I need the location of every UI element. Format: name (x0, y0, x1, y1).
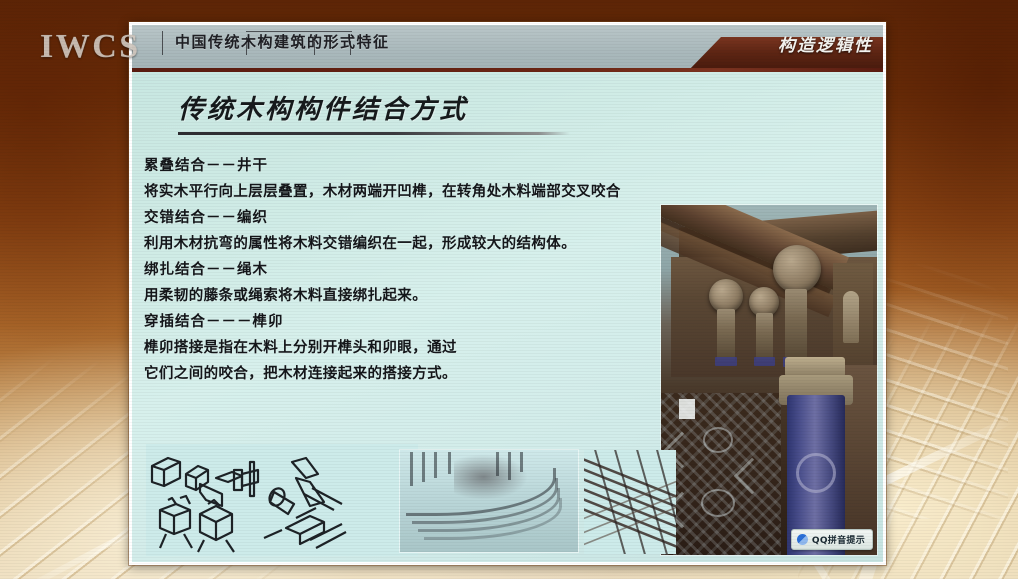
eaves-rafter (434, 452, 437, 478)
eaves-rafter (422, 452, 425, 482)
photo-hanging-column (756, 313, 773, 361)
photo-pendant-cap (715, 357, 737, 366)
photo-column-capital-upper (785, 357, 845, 377)
body-line: 穿插结合－－－榫卯 (144, 309, 674, 335)
iwcs-watermark-logo: IWCS (40, 28, 141, 66)
eaves-rafter (496, 452, 499, 476)
photo-white-highlight (679, 399, 695, 419)
panel-motif (703, 427, 733, 453)
figure-joint-diagrams (146, 444, 418, 556)
photo-pendant-cap (754, 357, 775, 366)
eaves-curve (424, 498, 562, 540)
body-line: 将实木平行向上层层叠置，木材两端开凹榫，在转角处木料端部交叉咬合 (144, 179, 674, 205)
qq-pinyin-badge: QQ拼音提示 (791, 529, 873, 550)
slide-body-text: 累叠结合－－井干 将实木平行向上层层叠置，木材两端开凹榫，在转角处木料端部交叉咬… (144, 153, 674, 387)
body-line: 用柔韧的藤条或绳索将木料直接绑扎起来。 (144, 283, 674, 309)
eaves-rafter (520, 452, 523, 472)
header-section-tab-label: 构造逻辑性 (778, 31, 873, 56)
qq-pinyin-icon (797, 534, 808, 545)
eaves-rafter (410, 452, 413, 486)
slide-header: 中国传统木构建筑的形式特征 构造逻辑性 (132, 25, 883, 72)
eaves-rafter (448, 452, 451, 474)
panel-motif (701, 489, 735, 517)
screen-root: IWCS 中国传统木构建筑的形式特征 构造逻辑性 传统木构构件结合方式 (0, 0, 1018, 579)
photo-hanging-column (717, 309, 735, 361)
body-line: 绑扎结合－－绳木 (144, 257, 674, 283)
body-line: 它们之间的咬合，把木材连接起来的搭接方式。 (144, 361, 674, 387)
eaves-rafter (508, 452, 511, 480)
body-line: 交错结合－－编织 (144, 205, 674, 231)
photo-dougong-bracket: QQ拼音提示 (661, 205, 877, 555)
slide-title: 传统木构构件结合方式 (178, 89, 570, 126)
qq-pinyin-label: QQ拼音提示 (812, 533, 865, 546)
slide-canvas: 中国传统木构建筑的形式特征 构造逻辑性 传统木构构件结合方式 累叠结合－－井干 … (132, 25, 883, 562)
slide-frame: 中国传统木构建筑的形式特征 构造逻辑性 传统木构构件结合方式 累叠结合－－井干 … (129, 22, 886, 565)
body-line: 利用木材抗弯的属性将木料交错编织在一起，形成较大的结构体。 (144, 231, 674, 257)
header-breadcrumb-title: 中国传统木构建筑的形式特征 (175, 31, 390, 52)
photo-hanging-column (785, 289, 807, 361)
body-line: 累叠结合－－井干 (144, 153, 674, 179)
title-underline (178, 132, 570, 135)
figure-truss-photo (584, 450, 676, 554)
photo-bracket-disc (773, 245, 821, 293)
header-divider-rule (132, 68, 883, 72)
slide-title-block: 传统木构构件结合方式 (178, 89, 570, 135)
panel-chevron (734, 458, 771, 495)
photo-bracket-disc (709, 279, 743, 313)
body-line: 榫卯搭接是指在木料上分别开榫头和卯眼，通过 (144, 335, 674, 361)
figure-eaves-photo (400, 450, 578, 552)
